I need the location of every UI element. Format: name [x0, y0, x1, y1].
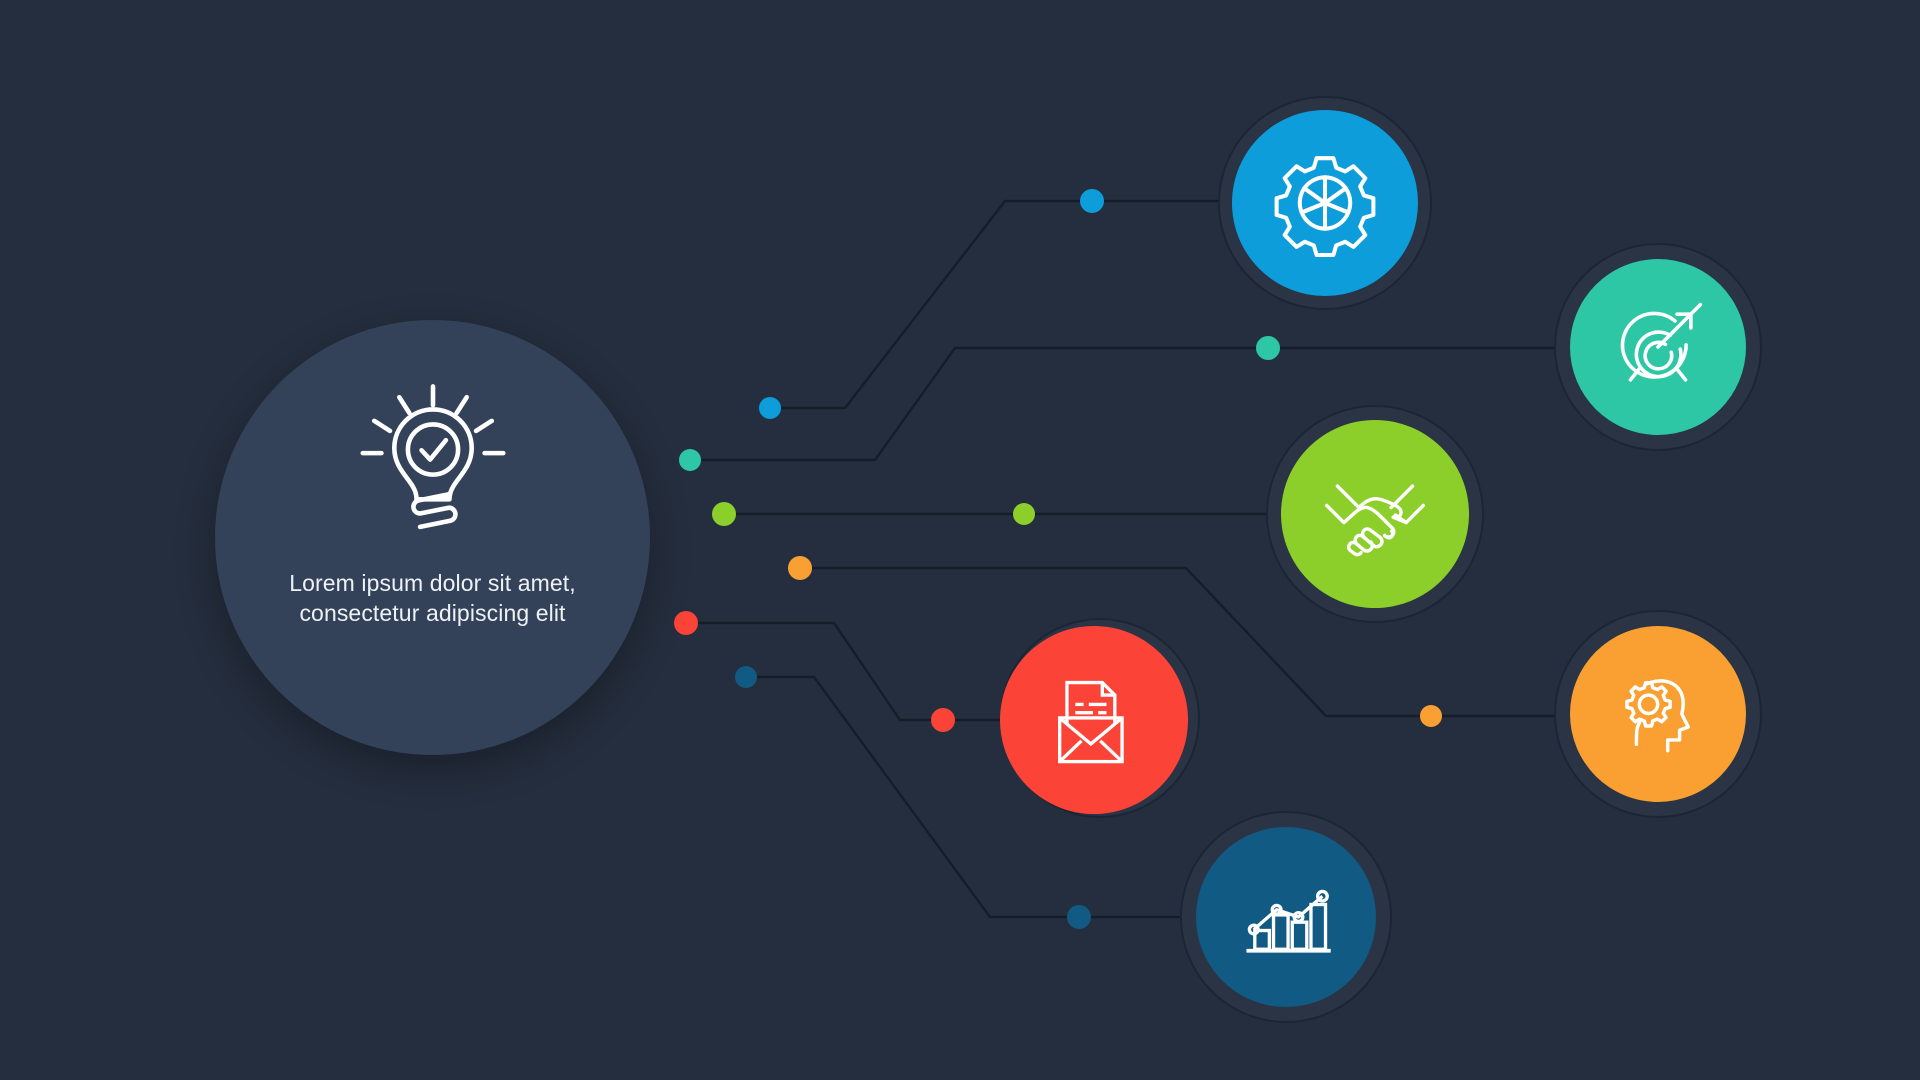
hub-description: Lorem ipsum dolor sit amet, consectetur …	[283, 569, 583, 629]
connector-mail-start-dot[interactable]	[674, 611, 698, 635]
infographic-canvas: Lorem ipsum dolor sit amet, consectetur …	[0, 0, 1920, 1080]
handshake-icon	[1316, 455, 1434, 573]
lightbulb-check-icon	[347, 375, 519, 547]
connector-gear	[770, 201, 1232, 408]
node-mail[interactable]	[1000, 626, 1188, 814]
connector-analytics-mid-dot[interactable]	[1067, 905, 1091, 929]
connector-mindset-mid-dot[interactable]	[1420, 705, 1442, 727]
connector-target-start-dot[interactable]	[679, 449, 701, 471]
connector-mail-mid-dot[interactable]	[931, 708, 955, 732]
gear-icon	[1269, 147, 1381, 259]
connector-mail	[686, 623, 1000, 720]
node-gear[interactable]	[1232, 110, 1418, 296]
node-analytics[interactable]	[1196, 827, 1376, 1007]
node-handshake[interactable]	[1281, 420, 1469, 608]
connector-target-mid-dot[interactable]	[1256, 336, 1280, 360]
head-gear-icon	[1604, 660, 1712, 768]
hub-circle: Lorem ipsum dolor sit amet, consectetur …	[215, 320, 650, 755]
connector-handshake-start-dot[interactable]	[712, 502, 736, 526]
connector-gear-start-dot[interactable]	[759, 397, 781, 419]
bar-chart-trend-icon	[1234, 865, 1338, 969]
connector-handshake-mid-dot[interactable]	[1013, 503, 1035, 525]
node-mindset[interactable]	[1570, 626, 1746, 802]
connector-mindset-start-dot[interactable]	[788, 556, 812, 580]
connector-gear-mid-dot[interactable]	[1080, 189, 1104, 213]
target-arrow-icon	[1605, 294, 1711, 400]
mail-document-icon	[1042, 668, 1146, 772]
connector-analytics-start-dot[interactable]	[735, 666, 757, 688]
node-target[interactable]	[1570, 259, 1746, 435]
